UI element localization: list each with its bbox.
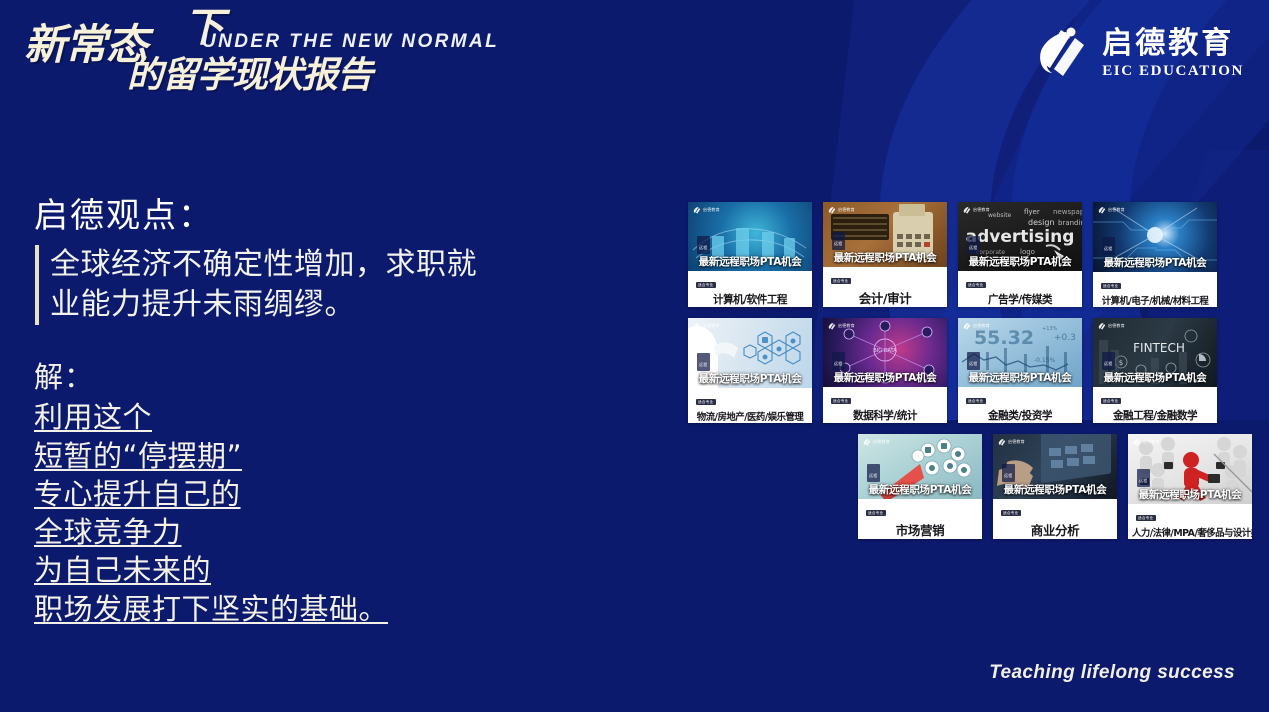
course-card-image-tag: 远程 [697,236,710,254]
eic-watermark-logo: 启德教育 [962,322,990,331]
course-card-image: advertisingwebsiteflyernewspaperdesignbr… [958,202,1082,271]
eic-watermark-text: 启德教育 [1143,440,1160,444]
course-card[interactable]: 启德教育远程最新远程职场PTA机会适合专业计算机/软件工程 [688,202,812,307]
course-card[interactable]: 启德教育远程最新远程职场PTA机会适合专业市场营销 [858,434,982,539]
course-card-footer: 适合专业商业分析 [993,499,1117,539]
course-card-major-badge: 适合专业 [696,282,716,288]
eic-logo-name-en: EIC EDUCATION [1102,64,1244,79]
eic-watermark-logo: 启德教育 [962,206,990,215]
course-card[interactable]: 启德教育远程最新远程职场PTA机会适合专业物流/房地产/医药/娱乐管理 [688,318,812,423]
svg-text:newspaper: newspaper [1053,208,1082,216]
course-card-headline: 最新远程职场PTA机会 [1093,370,1217,385]
eic-logo-text: 启德教育 EIC EDUCATION [1102,29,1244,79]
course-card-title: 金融类/投资学 [962,408,1078,423]
course-card[interactable]: 启德教育远程最新远程职场PTA机会适合专业人力/法律/MPA/奢侈品与设计类 [1128,434,1252,539]
course-card-grid: 启德教育远程最新远程职场PTA机会适合专业计算机/软件工程启德教育远程最新远程职… [688,202,1252,550]
viewpoint-heading: 启德观点： [34,196,564,237]
course-card[interactable]: BIG DATA启德教育远程最新远程职场PTA机会适合专业数据科学/统计 [823,318,947,423]
course-card-major-badge: 适合专业 [696,399,716,405]
eic-watermark-logo: 启德教育 [1132,438,1160,447]
course-card-image: BIG DATA启德教育远程最新远程职场PTA机会 [823,318,947,387]
solution-line: 利用这个 [34,398,564,436]
viewpoint-quote: 全球经济不确定性增加，求职就 业能力提升未雨绸缪。 [35,245,564,325]
course-card-footer: 适合专业会计/审计 [823,267,947,307]
eic-watermark-logo: 启德教育 [1097,322,1125,331]
left-text-column: 启德观点： 全球经济不确定性增加，求职就 业能力提升未雨绸缪。 解： 利用这个 … [34,196,564,628]
slide-header: 新常态下 的留学现状报告 UNDER THE NEW NORMAL [0,0,560,110]
course-card-image: 启德教育远程最新远程职场PTA机会 [688,318,812,388]
quote-line: 全球经济不确定性增加，求职就 [50,245,564,285]
eic-swoosh-icon [1028,24,1090,84]
course-card-footer: 适合专业金融工程/金融数学 [1093,387,1217,423]
eic-watermark-logo: 启德教育 [997,438,1025,447]
course-card-title: 数据科学/统计 [827,408,943,423]
eic-watermark-logo: 启德教育 [692,206,720,215]
course-card-headline: 最新远程职场PTA机会 [958,370,1082,385]
eic-watermark-text: 启德教育 [703,324,720,328]
course-card-headline: 最新远程职场PTA机会 [958,254,1082,269]
eic-watermark-logo: 启德教育 [862,438,890,447]
course-card[interactable]: 启德教育远程最新远程职场PTA机会适合专业计算机/电子/机械/材料工程 [1093,202,1217,307]
card-grid-row: 启德教育远程最新远程职场PTA机会适合专业计算机/软件工程启德教育远程最新远程职… [688,202,1252,307]
course-card-title: 广告学/传媒类 [962,292,1078,307]
course-card-title: 计算机/电子/机械/材料工程 [1097,293,1213,307]
solution-line: 为自己未来的 [34,551,564,589]
solution-line: 全球竞争力 [34,513,564,551]
course-card-footer: 适合专业金融类/投资学 [958,387,1082,423]
course-card-image-tag: 远程 [1102,237,1115,255]
course-card-image-tag: 远程 [1137,469,1150,487]
course-card-footer: 适合专业人力/法律/MPA/奢侈品与设计类 [1128,504,1252,539]
course-card-image-tag: 远程 [1002,464,1015,482]
course-card-title: 金融工程/金融数学 [1097,408,1213,423]
course-card-image: 启德教育远程最新远程职场PTA机会 [993,434,1117,499]
course-card-image-tag: 远程 [967,236,980,254]
course-card-footer: 适合专业计算机/电子/机械/材料工程 [1093,272,1217,307]
course-card-image-tag: 远程 [967,352,980,370]
course-card-headline: 最新远程职场PTA机会 [823,370,947,385]
course-card-major-badge: 适合专业 [1101,283,1121,289]
eic-logo-name-cn: 启德教育 [1102,29,1234,59]
course-card-major-badge: 适合专业 [866,510,886,516]
eic-watermark-text: 启德教育 [973,324,990,328]
course-card-title: 物流/房地产/医药/娱乐管理 [692,409,808,423]
course-card-title: 人力/法律/MPA/奢侈品与设计类 [1132,525,1248,539]
solution-label: 解： [34,359,564,397]
eic-watermark-text: 启德教育 [873,440,890,444]
eic-watermark-text: 启德教育 [973,208,990,212]
course-card-major-badge: 适合专业 [966,398,986,404]
solution-line: 专心提升自己的 [34,475,564,513]
course-card-major-badge: 适合专业 [1136,515,1156,521]
eic-logo: 启德教育 EIC EDUCATION [1028,24,1244,84]
svg-text:advertising: advertising [966,227,1075,247]
course-card-title: 商业分析 [997,520,1113,539]
course-card[interactable]: 启德教育远程最新远程职场PTA机会适合专业商业分析 [993,434,1117,539]
eic-watermark-text: 启德教育 [838,324,855,328]
svg-text:website: website [988,212,1012,219]
course-card-footer: 适合专业物流/房地产/医药/娱乐管理 [688,388,812,423]
card-grid-row: 启德教育远程最新远程职场PTA机会适合专业物流/房地产/医药/娱乐管理BIG D… [688,318,1252,423]
svg-text:+13%: +13% [1042,326,1058,332]
course-card-image: 启德教育远程最新远程职场PTA机会 [858,434,982,499]
course-card-headline: 最新远程职场PTA机会 [1128,487,1252,502]
course-card-headline: 最新远程职场PTA机会 [688,254,812,269]
card-grid-row: 启德教育远程最新远程职场PTA机会适合专业市场营销启德教育远程最新远程职场PTA… [688,434,1252,539]
svg-text:flyer: flyer [1024,208,1040,216]
course-card-major-badge: 适合专业 [966,282,986,288]
course-card-major-badge: 适合专业 [831,398,851,404]
course-card[interactable]: 55.32+0.3+13%-0.15%启德教育远程最新远程职场PTA机会适合专业… [958,318,1082,423]
course-card-image: FINTECH$启德教育远程最新远程职场PTA机会 [1093,318,1217,387]
course-card[interactable]: advertisingwebsiteflyernewspaperdesignbr… [958,202,1082,307]
eic-watermark-logo: 启德教育 [1097,206,1125,215]
course-card-title: 市场营销 [862,520,978,539]
report-title-sub: 的留学现状报告 [127,57,372,93]
eic-watermark-logo: 启德教育 [827,206,855,215]
course-card-title: 计算机/软件工程 [692,292,808,307]
course-card-footer: 适合专业数据科学/统计 [823,387,947,423]
course-card-headline: 最新远程职场PTA机会 [1093,255,1217,270]
course-card-footer: 适合专业市场营销 [858,499,982,539]
eic-watermark-text: 启德教育 [703,208,720,212]
slide-canvas: 新常态下 的留学现状报告 UNDER THE NEW NORMAL 启德教育 E… [0,0,1269,712]
svg-text:branding: branding [1058,219,1082,227]
footer-tagline: Teaching lifelong success [989,662,1235,684]
course-card-image: 启德教育远程最新远程职场PTA机会 [1093,202,1217,272]
course-card-image: 55.32+0.3+13%-0.15%启德教育远程最新远程职场PTA机会 [958,318,1082,387]
svg-text:FINTECH: FINTECH [1133,341,1185,355]
svg-text:+0.3: +0.3 [1054,333,1076,343]
course-card[interactable]: FINTECH$启德教育远程最新远程职场PTA机会适合专业金融工程/金融数学 [1093,318,1217,423]
solution-line: 职场发展打下坚实的基础。 [34,590,564,628]
course-card-image: 启德教育远程最新远程职场PTA机会 [1128,434,1252,504]
report-title-english: UNDER THE NEW NORMAL [202,31,499,53]
eic-watermark-logo: 启德教育 [692,322,720,331]
solution-line: 短暂的“停摆期” [34,437,564,475]
svg-text:$: $ [1119,359,1123,367]
eic-watermark-text: 启德教育 [1108,208,1125,212]
course-card-major-badge: 适合专业 [1101,398,1121,404]
quote-line: 业能力提升未雨绸缪。 [50,285,564,325]
solution-block: 解： 利用这个 短暂的“停摆期” 专心提升自己的 全球竞争力 为自己未来的 职场… [34,359,564,628]
course-card-footer: 适合专业广告学/传媒类 [958,271,1082,307]
course-card-headline: 最新远程职场PTA机会 [858,482,982,497]
svg-text:design: design [1028,218,1055,227]
eic-watermark-text: 启德教育 [838,208,855,212]
course-card-image-tag: 远程 [697,353,710,371]
course-card-image: 启德教育远程最新远程职场PTA机会 [823,202,947,267]
course-card-major-badge: 适合专业 [831,278,851,284]
course-card-headline: 最新远程职场PTA机会 [823,250,947,265]
course-card-footer: 适合专业计算机/软件工程 [688,271,812,307]
eic-watermark-text: 启德教育 [1108,324,1125,328]
course-card[interactable]: 启德教育远程最新远程职场PTA机会适合专业会计/审计 [823,202,947,307]
eic-watermark-text: 启德教育 [1008,440,1025,444]
course-card-image: 启德教育远程最新远程职场PTA机会 [688,202,812,271]
course-card-image-tag: 远程 [867,464,880,482]
course-card-image-tag: 远程 [1102,352,1115,370]
svg-text:-0.15%: -0.15% [1034,357,1056,364]
course-card-image-tag: 远程 [832,352,845,370]
course-card-headline: 最新远程职场PTA机会 [688,371,812,386]
course-card-major-badge: 适合专业 [1001,510,1021,516]
course-card-headline: 最新远程职场PTA机会 [993,482,1117,497]
course-card-title: 会计/审计 [827,288,943,307]
course-card-image-tag: 远程 [832,232,845,250]
eic-watermark-logo: 启德教育 [827,322,855,331]
